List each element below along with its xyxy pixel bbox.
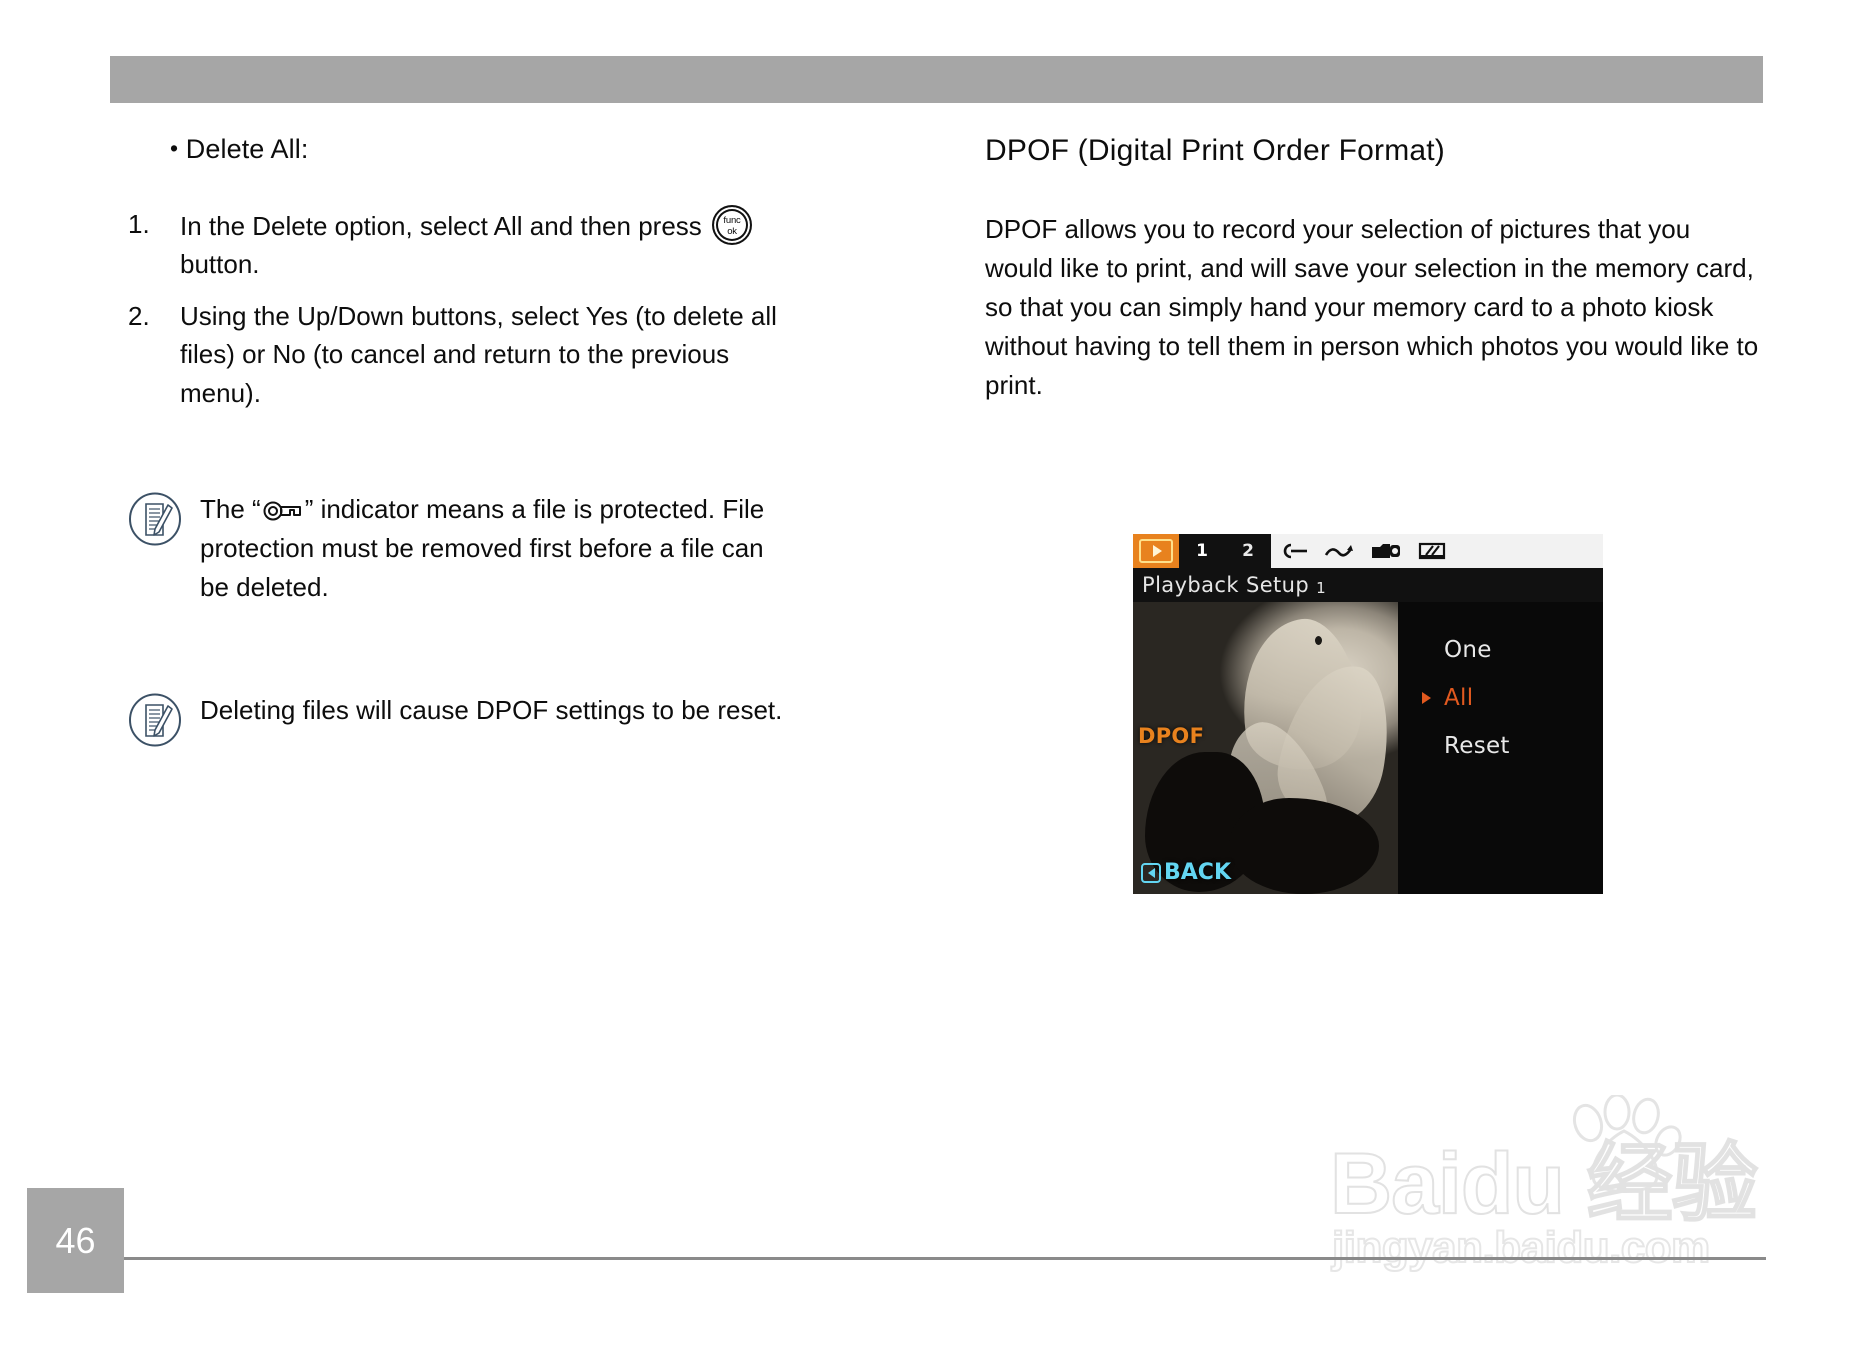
note-document-pen-icon: [128, 693, 182, 747]
section-title: DPOF (Digital Print Order Format): [985, 134, 1765, 168]
baidu-paw-icon: [1562, 1095, 1682, 1199]
step-number: 1.: [128, 205, 168, 243]
lcd-menu-title-number: 1: [1316, 579, 1326, 602]
step-item-1: 1. In the Delete option, select All and …: [128, 205, 788, 284]
watermark-sub-text: jingyan.baidu.com: [1332, 1223, 1710, 1273]
page-2-tab[interactable]: 2: [1225, 534, 1271, 568]
page-number-badge: 46: [27, 1188, 124, 1293]
back-button[interactable]: BACK: [1141, 860, 1231, 885]
step-number: 2.: [128, 297, 168, 335]
menu-item-one[interactable]: One: [1398, 626, 1603, 674]
lcd-preview-photo: DPOF BACK: [1133, 602, 1398, 894]
section-body: DPOF allows you to record your selection…: [985, 210, 1765, 405]
note-text-before: The “: [200, 494, 261, 524]
step-item-2: 2. Using the Up/Down buttons, select Yes…: [128, 297, 788, 412]
func-ok-top-label: func: [714, 216, 750, 226]
bullet-heading-label: Delete All:: [186, 134, 309, 164]
header-band: [110, 56, 1763, 103]
playback-tab[interactable]: [1133, 534, 1179, 568]
watermark-main-text: Baidu 经验: [1330, 1113, 1757, 1238]
camera-icon: [1370, 541, 1402, 561]
wrench-tab[interactable]: [1271, 534, 1317, 568]
camera-lcd-screenshot: 1 2: [1133, 534, 1603, 894]
func-ok-button-icon: func ok: [712, 205, 752, 245]
note-text: Deleting files will cause DPOF settings …: [200, 695, 782, 725]
lcd-menu-title-label: Playback Setup: [1142, 573, 1309, 597]
chevron-left-icon: [1141, 863, 1161, 883]
memory-card-icon: [1417, 541, 1447, 561]
back-button-label: BACK: [1164, 860, 1231, 885]
step-text-after: button.: [180, 249, 260, 279]
curve-arrow-icon: [1323, 541, 1357, 561]
baidu-watermark: Baidu 经验 jingyan.baidu.com: [1330, 1095, 1810, 1305]
camera-tab[interactable]: [1363, 534, 1409, 568]
page-1-tab[interactable]: 1: [1179, 534, 1225, 568]
bullet-dot-icon: •: [170, 135, 178, 161]
menu-item-all[interactable]: All: [1398, 674, 1603, 722]
steps-list: 1. In the Delete option, select All and …: [128, 205, 788, 412]
footer-divider: [124, 1257, 1766, 1260]
lcd-menu-title: Playback Setup 1: [1133, 568, 1603, 602]
func-ok-bottom-label: ok: [714, 227, 750, 237]
right-column: DPOF (Digital Print Order Format) DPOF a…: [985, 134, 1765, 405]
step-text-before: In the Delete option, select All and the…: [180, 211, 702, 241]
card-tab[interactable]: [1409, 534, 1455, 568]
note-document-pen-icon: [128, 492, 182, 546]
note-block-protected: The “” indicator means a file is protect…: [128, 490, 788, 607]
menu-item-reset[interactable]: Reset: [1398, 722, 1603, 770]
wrench-icon: [1279, 541, 1309, 561]
butterfly-eye-spot: [1315, 636, 1322, 645]
playback-icon: [1139, 539, 1173, 563]
lcd-tab-bar: 1 2: [1133, 534, 1603, 568]
lcd-option-menu: One All Reset: [1398, 602, 1603, 894]
step-text-before: Using the Up/Down buttons, select Yes (t…: [180, 301, 777, 408]
bullet-heading: • Delete All:: [170, 134, 788, 165]
key-protect-icon: [262, 500, 304, 522]
left-column: • Delete All: 1. In the Delete option, s…: [128, 134, 788, 730]
note-block-dpof-reset: Deleting files will cause DPOF settings …: [128, 691, 788, 730]
dpof-overlay-label: DPOF: [1138, 724, 1204, 748]
connection-tab[interactable]: [1317, 534, 1363, 568]
